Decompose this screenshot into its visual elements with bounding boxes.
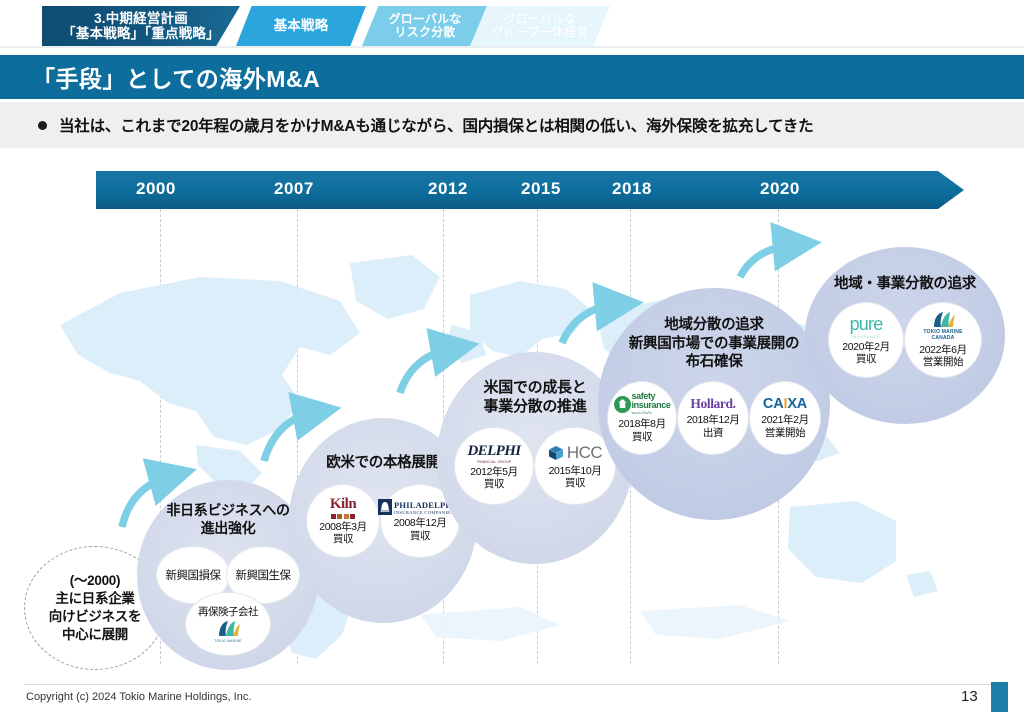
stage-line: 主に日系企業 xyxy=(49,590,141,608)
hollard-logo-icon: Hollard. xyxy=(690,396,735,412)
logo-caixa[interactable]: CAIXA 2021年2月 営業開始 xyxy=(750,382,820,454)
tokio-marine-logo-icon xyxy=(215,619,241,639)
kiln-squares-icon xyxy=(331,514,356,519)
nav-underline xyxy=(0,46,1024,48)
summary-bullet-text: 当社は、これまで20年程の歳月をかけM&Aも通じながら、国内損保とは相関の低い、… xyxy=(59,114,813,136)
phase-region-business-diversification[interactable]: 地域・事業分散の追求 pure INSURANCE 2020年2月 買収 xyxy=(805,247,1005,424)
phase-title-line: 米国での成長と xyxy=(484,378,587,397)
caption-line: 2008年12月 xyxy=(394,517,447,529)
caption-line: 買収 xyxy=(410,530,430,542)
phase-logo-row: safety insurance ซมประกันภัย 2018年8月 買収 … xyxy=(608,382,820,454)
phase-logo-row: Kiln 2008年3月 買収 xyxy=(307,485,459,557)
timeline-year-2012: 2012 xyxy=(428,179,468,199)
phase-title-line: 進出強化 xyxy=(166,520,289,538)
logo-caption: 2021年2月 営業開始 xyxy=(761,414,808,439)
phase-logo-row: DELPHI FINANCIAL GROUP 2012年5月 買収 HCC xyxy=(455,428,615,504)
safety-insurance-logo-icon: safety insurance ซมประกันภัย xyxy=(614,392,671,416)
hollard-wordmark: Hollard. xyxy=(690,396,735,412)
phase-title-line: 地域・事業分散の追求 xyxy=(834,275,976,294)
timeline-year-2018: 2018 xyxy=(612,179,652,199)
arrow-5 xyxy=(740,245,792,277)
caption-line: 出資 xyxy=(703,427,723,439)
logo-caption: 2008年12月 買収 xyxy=(394,517,447,542)
phase-title-line: 非日系ビジネスへの xyxy=(166,502,289,520)
delphi-logo-icon: DELPHI FINANCIAL GROUP xyxy=(467,443,520,464)
logo-label: 新興国損保 xyxy=(166,567,221,583)
caption-line: 2022年6月 xyxy=(919,344,966,356)
phase-logo-row: pure INSURANCE 2020年2月 買収 TOKIO MARINECA… xyxy=(829,303,981,377)
nav-tab-global-risk[interactable]: グローバルな リスク分散 xyxy=(362,6,488,46)
summary-bullet-bar: 当社は、これまで20年程の歳月をかけM&Aも通じながら、国内損保とは相関の低い、… xyxy=(0,102,1024,148)
stage-line: (〜2000) xyxy=(49,572,141,590)
caption-line: 2021年2月 xyxy=(761,414,808,426)
phase-title: 地域・事業分散の追求 xyxy=(834,275,976,294)
logo-reinsurance-sub[interactable]: 再保険子会社 TOKIO MARINE xyxy=(186,593,270,655)
logo-caption: 2018年12月 出資 xyxy=(687,414,740,439)
footer-divider xyxy=(24,684,1000,685)
page-accent-block xyxy=(991,682,1008,712)
slide-root: 3.中期経営計画 「基本戦略」「重点戦略」 基本戦略 グローバルな リスク分散 … xyxy=(0,0,1024,724)
logo-caption: 2018年8月 買収 xyxy=(618,418,665,443)
caption-line: 2020年2月 xyxy=(842,341,889,353)
caption-line: 2018年12月 xyxy=(687,414,740,426)
logo-tokio-marine-canada[interactable]: TOKIO MARINECANADA 2022年6月 営業開始 xyxy=(905,303,981,377)
stage-line: 向けビジネスを xyxy=(49,608,141,626)
caption-line: 買収 xyxy=(856,353,876,365)
tokio-marine-canada-logo-icon: TOKIO MARINECANADA xyxy=(923,310,962,342)
arrow-2 xyxy=(264,413,312,461)
safety-thai-wordmark: ซมประกันภัย xyxy=(632,410,652,416)
phase-title: 米国での成長と 事業分散の推進 xyxy=(484,378,587,416)
nav-tab-line: グローバルな xyxy=(388,13,461,26)
delphi-subwordmark: FINANCIAL GROUP xyxy=(477,460,511,464)
phase-title: 非日系ビジネスへの 進出強化 xyxy=(166,502,289,538)
timeline-year-2020: 2020 xyxy=(760,179,800,199)
tokio-marine-wordmark: TOKIO MARINE xyxy=(214,639,242,643)
caption-line: 2018年8月 xyxy=(618,418,665,430)
nav-tab-global-group[interactable]: グローバルな グループ一体経営 xyxy=(470,6,610,46)
timeline-year-2015: 2015 xyxy=(521,179,561,199)
slide-title-bar: 「手段」としての海外M&A xyxy=(0,55,1024,99)
logo-caption: 2008年3月 買収 xyxy=(319,521,366,546)
page-number: 13 xyxy=(961,688,978,705)
logo-delphi[interactable]: DELPHI FINANCIAL GROUP 2012年5月 買収 xyxy=(455,428,533,504)
caption-line: 営業開始 xyxy=(923,356,963,368)
pure-logo-icon: pure INSURANCE xyxy=(850,314,883,339)
phase-title-line: 欧米での本格展開 xyxy=(326,454,440,473)
caption-line: 2012年5月 xyxy=(470,466,517,478)
hcc-wordmark: HCC xyxy=(567,443,602,463)
logo-hollard[interactable]: Hollard. 2018年12月 出資 xyxy=(678,382,748,454)
copyright-text: Copyright (c) 2024 Tokio Marine Holdings… xyxy=(26,691,251,703)
logo-kiln[interactable]: Kiln 2008年3月 買収 xyxy=(307,485,379,557)
philadelphia-subwordmark: INSURANCE COMPANIES xyxy=(394,510,453,515)
arrow-4 xyxy=(562,305,614,343)
phase-title-line: 地域分散の追求 xyxy=(629,316,799,335)
caption-line: 2008年3月 xyxy=(319,521,366,533)
pure-wordmark: pure xyxy=(850,314,883,335)
phase-title-line: 新興国市場での事業展開の xyxy=(629,335,799,354)
nav-tab-line: グループ一体経営 xyxy=(492,26,589,39)
top-nav-bar: 3.中期経営計画 「基本戦略」「重点戦略」 基本戦略 グローバルな リスク分散 … xyxy=(0,0,1024,52)
nav-tab-line: 3.中期経営計画 xyxy=(94,11,188,26)
nav-tab-chuki-keiei[interactable]: 3.中期経営計画 「基本戦略」「重点戦略」 xyxy=(42,6,240,46)
insurance-wordmark: insurance xyxy=(632,401,671,410)
timeline-year-2007: 2007 xyxy=(274,179,314,199)
arrow-3 xyxy=(400,349,450,393)
nav-tab-kihon-senryaku[interactable]: 基本戦略 xyxy=(236,6,366,46)
caption-line: 買収 xyxy=(484,478,504,490)
hcc-logo-icon: HCC xyxy=(548,443,602,463)
bullet-dot-icon xyxy=(38,121,47,130)
kiln-logo-icon: Kiln xyxy=(330,496,356,519)
kiln-wordmark: Kiln xyxy=(330,496,356,513)
pure-subwordmark: INSURANCE xyxy=(852,335,881,339)
nav-tab-line: リスク分散 xyxy=(394,26,455,39)
caption-line: 営業開始 xyxy=(765,427,805,439)
timeline-arrow: 2000 2007 2012 2015 2018 2020 xyxy=(96,171,964,209)
caption-line: 2015年10月 xyxy=(549,465,602,477)
logo-caption: 2012年5月 買収 xyxy=(470,466,517,491)
logo-caption: 2015年10月 買収 xyxy=(549,465,602,490)
page-title: 「手段」としての海外M&A xyxy=(32,60,320,94)
stage-line: 中心に展開 xyxy=(49,626,141,644)
logo-safety-insurance[interactable]: safety insurance ซมประกันภัย 2018年8月 買収 xyxy=(608,382,676,454)
logo-label: 再保険子会社 xyxy=(198,604,258,619)
timeline-year-2000: 2000 xyxy=(136,179,176,199)
nav-tab-line: 基本戦略 xyxy=(274,18,329,33)
nav-tab-line: グローバルな xyxy=(503,13,576,26)
phase-title: 地域分散の追求 新興国市場での事業展開の 布石確保 xyxy=(629,316,799,372)
caption-line: 買収 xyxy=(333,533,353,545)
delphi-wordmark: DELPHI xyxy=(467,443,520,460)
logo-pure[interactable]: pure INSURANCE 2020年2月 買収 xyxy=(829,303,903,377)
caption-line: 買収 xyxy=(632,431,652,443)
logo-caption: 2022年6月 営業開始 xyxy=(919,344,966,369)
phase-title-line: 布石確保 xyxy=(629,353,799,372)
tokio-marine-canada-wordmark: TOKIO MARINECANADA xyxy=(923,330,962,342)
phase-title-line: 事業分散の推進 xyxy=(484,397,587,416)
caption-line: 買収 xyxy=(565,477,585,489)
nav-tab-line: 「基本戦略」「重点戦略」 xyxy=(62,26,220,41)
caixa-logo-icon: CAIXA xyxy=(763,396,807,412)
logo-caption: 2020年2月 買収 xyxy=(842,341,889,366)
phase-regional-diversification[interactable]: 地域分散の追求 新興国市場での事業展開の 布石確保 safety insuran… xyxy=(598,288,830,520)
caixa-wordmark: CAIXA xyxy=(763,396,807,412)
phase-title: 欧米での本格展開 xyxy=(326,454,440,473)
logo-label: 新興国生保 xyxy=(236,567,291,583)
phase-logo-row-2: 再保険子会社 TOKIO MARINE xyxy=(186,593,270,655)
stage-pre-2000-text: (〜2000) 主に日系企業 向けビジネスを 中心に展開 xyxy=(49,572,141,645)
